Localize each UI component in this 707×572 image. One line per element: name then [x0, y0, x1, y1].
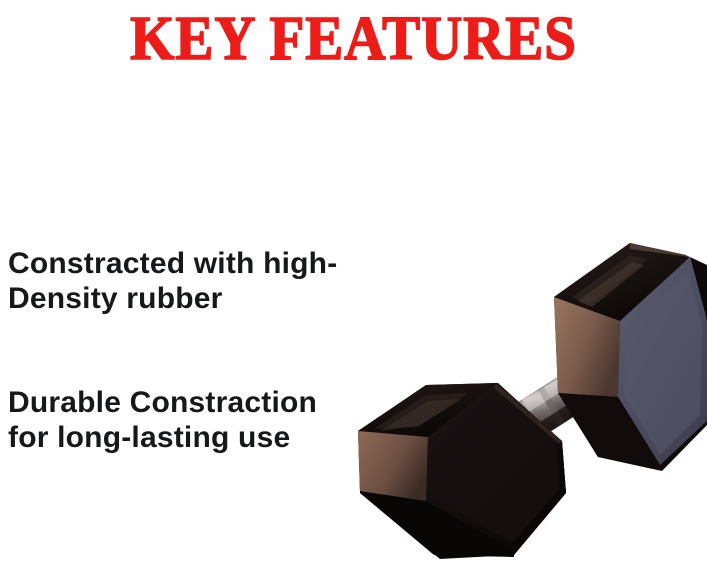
feature-text-high-density-rubber: Constracted with high- Density rubber — [8, 246, 337, 316]
dumbbell-head-right — [554, 243, 707, 471]
dumbbell-illustration — [330, 225, 707, 565]
page-title: KEY FEATURES — [28, 8, 678, 70]
feature-text-durable-construction: Durable Constraction for long-lasting us… — [8, 385, 317, 455]
dumbbell-image — [330, 225, 707, 565]
key-features-graphic: KEY FEATURES Constracted with high- Dens… — [0, 0, 707, 572]
